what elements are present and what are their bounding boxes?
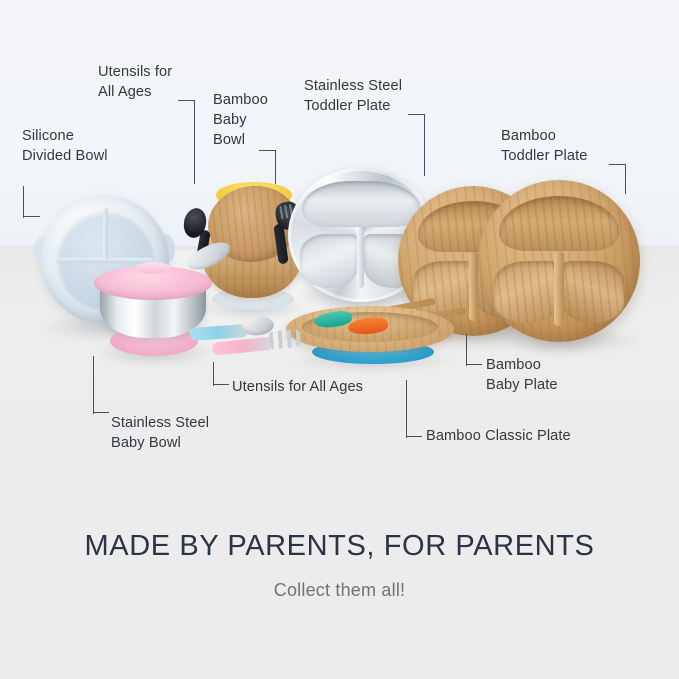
callout-label-bamboo-classic-plate: Bamboo Classic Plate	[426, 426, 571, 446]
callout-label-utensils-bottom: Utensils for All Ages	[232, 377, 363, 397]
photo-fade-band	[0, 455, 679, 497]
callout-silicone-divided-bowl: Silicone Divided Bowl	[22, 126, 108, 166]
callout-label-bamboo-baby-bowl: Bamboo Baby Bowl	[213, 90, 268, 150]
utensil-fork-tines	[269, 328, 303, 349]
infographic-canvas: Silicone Divided Bowl Utensils for All A…	[0, 0, 679, 679]
callout-bamboo-toddler-plate: Bamboo Toddler Plate	[501, 126, 587, 166]
callout-bamboo-baby-bowl: Bamboo Baby Bowl	[213, 90, 268, 150]
silicone-bowl-divider-vertical	[103, 208, 108, 260]
callout-bamboo-baby-plate: Bamboo Baby Plate	[486, 355, 558, 395]
leader-h-bamboo-toddler-plate	[609, 164, 626, 165]
callout-label-bamboo-toddler-plate: Bamboo Toddler Plate	[501, 126, 587, 166]
subline: Collect them all!	[274, 580, 405, 601]
leader-v-ss-toddler-plate	[424, 114, 425, 176]
leader-h-bamboo-baby-plate	[466, 364, 482, 365]
leader-h-bamboo-classic-plate	[406, 436, 422, 437]
leader-v-silicone-divided-bowl	[23, 186, 24, 218]
leader-v-ss-baby-bowl	[93, 356, 94, 414]
callout-utensils-top: Utensils for All Ages	[98, 62, 172, 102]
callout-label-ss-baby-bowl: Stainless Steel Baby Bowl	[111, 413, 209, 453]
callout-label-silicone-divided-bowl: Silicone Divided Bowl	[22, 126, 108, 166]
leader-v-bamboo-baby-plate	[466, 334, 467, 366]
leader-v-bamboo-classic-plate	[406, 380, 407, 438]
ss-toddler-plate-divider	[357, 230, 364, 288]
ss-toddler-plate-compartment-bottom-left	[300, 234, 358, 288]
leader-h-ss-baby-bowl	[93, 412, 109, 413]
leader-v-bamboo-baby-bowl	[275, 150, 276, 184]
bamboo-toddler-front-compartment-bottom-left	[494, 261, 559, 323]
product-bamboo-toddler-plate-front[interactable]	[478, 180, 640, 342]
ss-baby-bowl-lid-tab	[136, 262, 170, 274]
leader-v-bamboo-toddler-plate	[625, 164, 626, 194]
leader-h-ss-toddler-plate	[408, 114, 425, 115]
callout-label-utensils-top: Utensils for All Ages	[98, 62, 172, 102]
bamboo-toddler-back-divider	[469, 252, 478, 321]
bamboo-toddler-front-compartment-bottom-right	[562, 261, 624, 323]
callout-ss-baby-bowl: Stainless Steel Baby Bowl	[111, 413, 209, 453]
callout-label-ss-toddler-plate: Stainless Steel Toddler Plate	[304, 76, 402, 116]
leader-h-silicone-divided-bowl	[23, 216, 40, 217]
product-photo: Silicone Divided Bowl Utensils for All A…	[0, 0, 679, 497]
leader-v-utensils-bottom	[213, 362, 214, 386]
callout-utensils-bottom: Utensils for All Ages	[232, 377, 363, 397]
leader-h-utensils-top	[178, 100, 195, 101]
callout-ss-toddler-plate: Stainless Steel Toddler Plate	[304, 76, 402, 116]
callout-label-bamboo-baby-plate: Bamboo Baby Plate	[486, 355, 558, 395]
bamboo-toddler-front-divider	[554, 251, 564, 326]
leader-h-utensils-bottom	[213, 384, 229, 385]
leader-h-bamboo-baby-bowl	[259, 150, 276, 151]
utensil-fork-handle	[212, 336, 275, 355]
leader-v-utensils-top	[194, 100, 195, 184]
bottom-message-panel: MADE BY PARENTS, FOR PARENTS Collect the…	[0, 497, 679, 679]
callout-bamboo-classic-plate: Bamboo Classic Plate	[426, 426, 571, 446]
headline: MADE BY PARENTS, FOR PARENTS	[85, 530, 595, 563]
